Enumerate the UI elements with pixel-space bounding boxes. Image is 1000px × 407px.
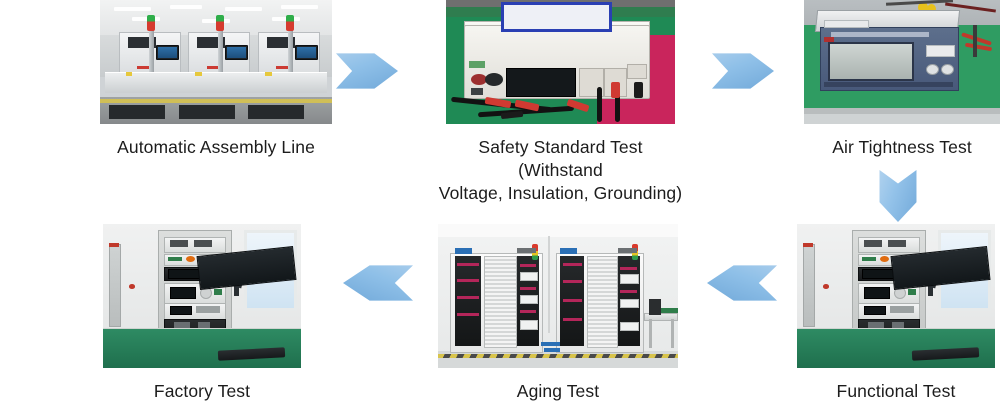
arrow-down-icon-3: [876, 170, 920, 222]
photo-air-tightness-test: [804, 0, 1000, 124]
step-factory-test[interactable]: Factory Test: [103, 224, 301, 404]
caption-safety-standard-test: Safety Standard Test (Withstand Voltage,…: [434, 136, 687, 204]
process-flow-diagram: Automatic Assembly Line: [0, 0, 1000, 407]
caption-functional-test: Functional Test: [793, 380, 999, 403]
photo-factory-test: [103, 224, 301, 368]
step-aging-test[interactable]: Aging Test: [438, 224, 678, 404]
photo-aging-test: [438, 224, 678, 368]
arrow-right-icon-2: [712, 50, 774, 92]
caption-aging-test: Aging Test: [432, 380, 684, 403]
arrow-left-icon-4: [707, 262, 777, 304]
caption-automatic-assembly-line: Automatic Assembly Line: [94, 136, 338, 159]
step-functional-test[interactable]: Functional Test: [797, 224, 995, 404]
caption-air-tightness-test: Air Tightness Test: [800, 136, 1000, 159]
step-automatic-assembly-line[interactable]: Automatic Assembly Line: [100, 0, 332, 170]
photo-safety-standard-test: [446, 0, 675, 124]
step-air-tightness-test[interactable]: Air Tightness Test: [804, 0, 1000, 170]
arrow-left-icon-5: [343, 262, 413, 304]
caption-factory-test: Factory Test: [97, 380, 307, 403]
arrow-right-icon-1: [336, 50, 398, 92]
photo-functional-test: [797, 224, 995, 368]
photo-automatic-assembly-line: [100, 0, 332, 124]
step-safety-standard-test[interactable]: Safety Standard Test (Withstand Voltage,…: [446, 0, 675, 190]
